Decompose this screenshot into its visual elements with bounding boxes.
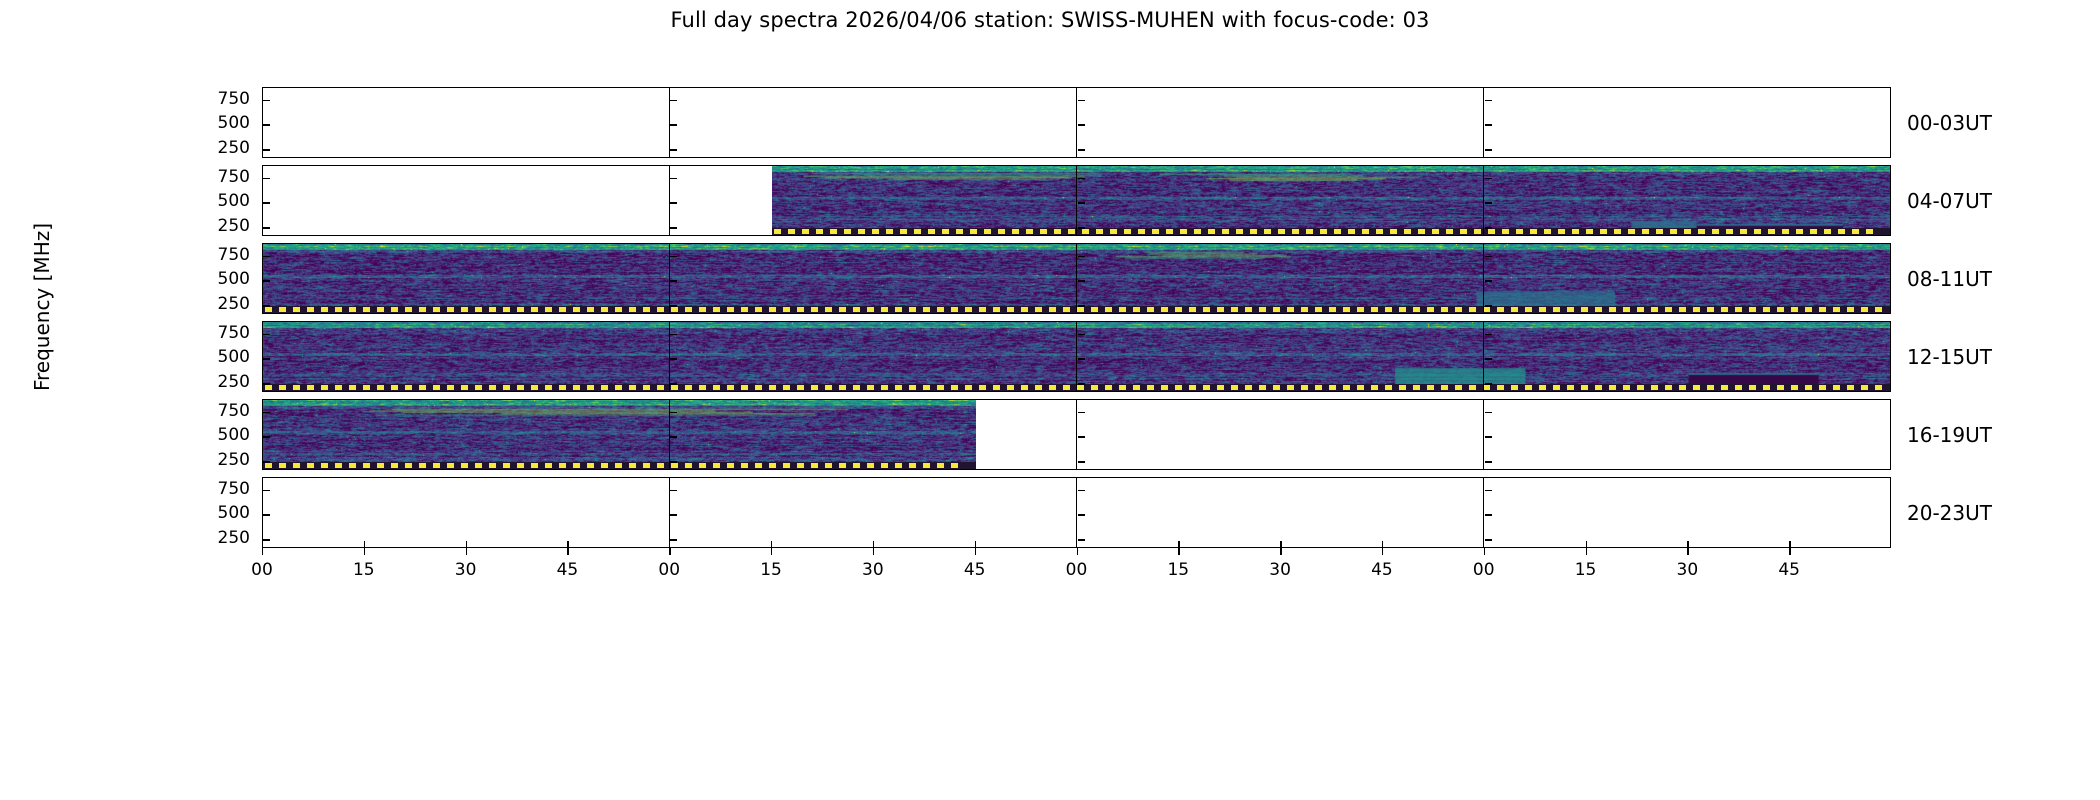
y-tick-label: 250	[218, 372, 250, 392]
x-tick-label: 15	[353, 560, 375, 580]
hour-subpanel-07[interactable]	[1483, 166, 1890, 235]
y-tick	[670, 539, 677, 540]
y-tick	[1485, 539, 1492, 540]
y-tick	[263, 358, 270, 359]
hour-subpanel-05[interactable]	[669, 166, 1076, 235]
y-tick	[1485, 358, 1492, 359]
y-tick	[1078, 514, 1085, 515]
hour-subpanels	[263, 166, 1890, 235]
y-tick	[1078, 256, 1085, 257]
hour-subpanel-16[interactable]	[263, 400, 669, 469]
y-tick	[670, 256, 677, 257]
y-tick-label: 500	[218, 425, 250, 445]
hour-subpanel-20[interactable]	[263, 478, 669, 547]
x-tick-label: 00	[1473, 560, 1495, 580]
x-tick-minor	[364, 541, 365, 548]
x-tick-label: 15	[1167, 560, 1189, 580]
y-tick	[670, 178, 677, 179]
y-tick	[263, 383, 270, 384]
y-tick	[1078, 280, 1085, 281]
y-tick	[1485, 383, 1492, 384]
y-tick	[670, 149, 677, 150]
row-label-08-11ut: 08-11UT	[1907, 267, 1992, 291]
x-tick	[771, 548, 772, 555]
y-tick-label: 250	[218, 216, 250, 236]
y-tick-label: 250	[218, 528, 250, 548]
hour-subpanel-17[interactable]	[669, 400, 1076, 469]
hour-subpanel-18[interactable]	[1076, 400, 1483, 469]
y-tick	[1078, 202, 1085, 203]
y-tick	[263, 256, 270, 257]
y-tick	[1485, 461, 1492, 462]
x-tick	[1789, 548, 1790, 555]
y-tick	[263, 436, 270, 437]
y-tick	[263, 461, 270, 462]
y-tick	[1078, 383, 1085, 384]
y-tick	[670, 202, 677, 203]
y-tick	[1078, 124, 1085, 125]
row-label-00-03ut: 00-03UT	[1907, 111, 1992, 135]
panel-row-00-03ut[interactable]	[262, 87, 1891, 158]
y-tick	[263, 124, 270, 125]
axes-12-15ut	[262, 321, 1891, 392]
hour-subpanel-23[interactable]	[1483, 478, 1890, 547]
y-tick	[1078, 412, 1085, 413]
x-tick-label: 30	[455, 560, 477, 580]
y-tick	[1485, 412, 1492, 413]
y-tick-label: 500	[218, 113, 250, 133]
x-tick	[669, 548, 670, 555]
y-tick	[670, 436, 677, 437]
y-tick	[1078, 436, 1085, 437]
y-tick-label: 750	[218, 323, 250, 343]
x-tick-minor	[1280, 541, 1281, 548]
panel-row-20-23ut[interactable]	[262, 477, 1891, 548]
y-tick-label: 500	[218, 191, 250, 211]
y-tick	[1485, 149, 1492, 150]
x-tick-minor	[466, 541, 467, 548]
y-tick	[1078, 461, 1085, 462]
hour-subpanel-11[interactable]	[1483, 244, 1890, 313]
x-tick	[1382, 548, 1383, 555]
y-tick	[263, 149, 270, 150]
panel-row-04-07ut[interactable]	[262, 165, 1891, 236]
x-tick	[1687, 548, 1688, 555]
hour-subpanel-02[interactable]	[1076, 88, 1483, 157]
hour-subpanel-03[interactable]	[1483, 88, 1890, 157]
panel-row-12-15ut[interactable]	[262, 321, 1891, 392]
axes-16-19ut	[262, 399, 1891, 470]
hour-subpanel-22[interactable]	[1076, 478, 1483, 547]
y-tick-label: 250	[218, 294, 250, 314]
x-tick-label: 45	[964, 560, 986, 580]
x-tick	[364, 548, 365, 555]
axes-00-03ut	[262, 87, 1891, 158]
y-axis-label: Frequency [MHz]	[30, 177, 54, 437]
row-label-20-23ut: 20-23UT	[1907, 501, 1992, 525]
x-tick	[262, 548, 263, 555]
hour-subpanel-09[interactable]	[669, 244, 1076, 313]
y-tick	[670, 124, 677, 125]
hour-subpanels	[263, 400, 1890, 469]
y-tick	[263, 514, 270, 515]
y-tick-label: 500	[218, 503, 250, 523]
y-tick	[1078, 358, 1085, 359]
y-tick	[670, 461, 677, 462]
y-tick	[1078, 227, 1085, 228]
y-tick	[670, 305, 677, 306]
y-tick	[263, 280, 270, 281]
y-tick	[670, 412, 677, 413]
x-tick-label: 30	[862, 560, 884, 580]
axes-04-07ut	[262, 165, 1891, 236]
y-tick	[1485, 436, 1492, 437]
x-tick-minor	[1382, 541, 1383, 548]
y-tick	[670, 100, 677, 101]
x-tick-minor	[567, 541, 568, 548]
row-label-16-19ut: 16-19UT	[1907, 423, 1992, 447]
hour-subpanel-12[interactable]	[263, 322, 669, 391]
x-tick-minor	[873, 541, 874, 548]
hour-subpanel-15[interactable]	[1483, 322, 1890, 391]
y-tick	[263, 412, 270, 413]
y-tick	[1485, 202, 1492, 203]
axes-08-11ut	[262, 243, 1891, 314]
x-tick-label: 00	[658, 560, 680, 580]
x-tick	[466, 548, 467, 555]
x-tick-label: 45	[1371, 560, 1393, 580]
y-tick	[670, 227, 677, 228]
hour-subpanel-06[interactable]	[1076, 166, 1483, 235]
row-label-12-15ut: 12-15UT	[1907, 345, 1992, 369]
x-tick-label: 15	[1575, 560, 1597, 580]
x-tick-label: 45	[1778, 560, 1800, 580]
x-tick-label: 15	[760, 560, 782, 580]
y-tick	[1485, 305, 1492, 306]
y-tick-label: 750	[218, 479, 250, 499]
y-tick	[1485, 124, 1492, 125]
y-tick	[1485, 334, 1492, 335]
y-tick	[670, 383, 677, 384]
y-tick-label: 750	[218, 167, 250, 187]
y-tick	[263, 490, 270, 491]
x-tick-minor	[1789, 541, 1790, 548]
spectrogram-figure: Full day spectra 2026/04/06 station: SWI…	[0, 0, 2100, 800]
hour-subpanel-21[interactable]	[669, 478, 1076, 547]
y-tick	[1078, 100, 1085, 101]
y-tick	[263, 178, 270, 179]
x-tick-label: 00	[251, 560, 273, 580]
row-label-04-07ut: 04-07UT	[1907, 189, 1992, 213]
y-tick	[1485, 256, 1492, 257]
y-tick	[1078, 178, 1085, 179]
y-tick-label: 250	[218, 450, 250, 470]
x-tick	[873, 548, 874, 555]
hour-subpanel-00[interactable]	[263, 88, 669, 157]
x-tick	[1484, 548, 1485, 555]
y-tick	[263, 539, 270, 540]
axes-20-23ut	[262, 477, 1891, 548]
y-tick-label: 500	[218, 269, 250, 289]
y-tick	[1078, 305, 1085, 306]
hour-subpanel-01[interactable]	[669, 88, 1076, 157]
x-tick-minor	[771, 541, 772, 548]
y-tick	[670, 280, 677, 281]
y-tick	[1485, 490, 1492, 491]
hour-subpanel-19[interactable]	[1483, 400, 1890, 469]
x-tick	[975, 548, 976, 555]
x-tick-minor	[975, 541, 976, 548]
y-tick	[1485, 227, 1492, 228]
x-tick-label: 00	[1066, 560, 1088, 580]
y-tick	[1485, 514, 1492, 515]
y-tick	[1078, 334, 1085, 335]
x-tick-label: 45	[557, 560, 579, 580]
hour-subpanels	[263, 478, 1890, 547]
y-tick	[1485, 280, 1492, 281]
hour-subpanels	[263, 88, 1890, 157]
x-tick	[567, 548, 568, 555]
y-tick	[263, 305, 270, 306]
y-tick	[263, 202, 270, 203]
y-tick	[1078, 539, 1085, 540]
y-tick-label: 250	[218, 138, 250, 158]
y-tick	[1485, 178, 1492, 179]
hour-subpanel-04[interactable]	[263, 166, 669, 235]
hour-subpanels	[263, 244, 1890, 313]
x-tick-minor	[1586, 541, 1587, 548]
y-tick-label: 750	[218, 245, 250, 265]
x-tick	[1077, 548, 1078, 555]
y-tick	[670, 514, 677, 515]
y-tick	[670, 334, 677, 335]
x-tick	[1586, 548, 1587, 555]
y-tick	[263, 227, 270, 228]
y-tick	[670, 490, 677, 491]
hour-subpanel-10[interactable]	[1076, 244, 1483, 313]
y-tick-label: 500	[218, 347, 250, 367]
x-tick	[1178, 548, 1179, 555]
y-tick	[1485, 100, 1492, 101]
y-tick-label: 750	[218, 401, 250, 421]
x-tick-minor	[1178, 541, 1179, 548]
y-tick	[1078, 490, 1085, 491]
hour-subpanel-08[interactable]	[263, 244, 669, 313]
x-tick	[1280, 548, 1281, 555]
figure-title: Full day spectra 2026/04/06 station: SWI…	[0, 8, 2100, 32]
hour-subpanel-14[interactable]	[1076, 322, 1483, 391]
x-tick-label: 30	[1269, 560, 1291, 580]
y-tick	[1078, 149, 1085, 150]
hour-subpanel-13[interactable]	[669, 322, 1076, 391]
y-tick	[670, 358, 677, 359]
y-tick-label: 750	[218, 89, 250, 109]
panel-row-16-19ut[interactable]	[262, 399, 1891, 470]
panel-row-08-11ut[interactable]	[262, 243, 1891, 314]
hour-subpanels	[263, 322, 1890, 391]
x-tick-minor	[1687, 541, 1688, 548]
y-tick	[263, 334, 270, 335]
x-tick-label: 30	[1677, 560, 1699, 580]
y-tick	[263, 100, 270, 101]
